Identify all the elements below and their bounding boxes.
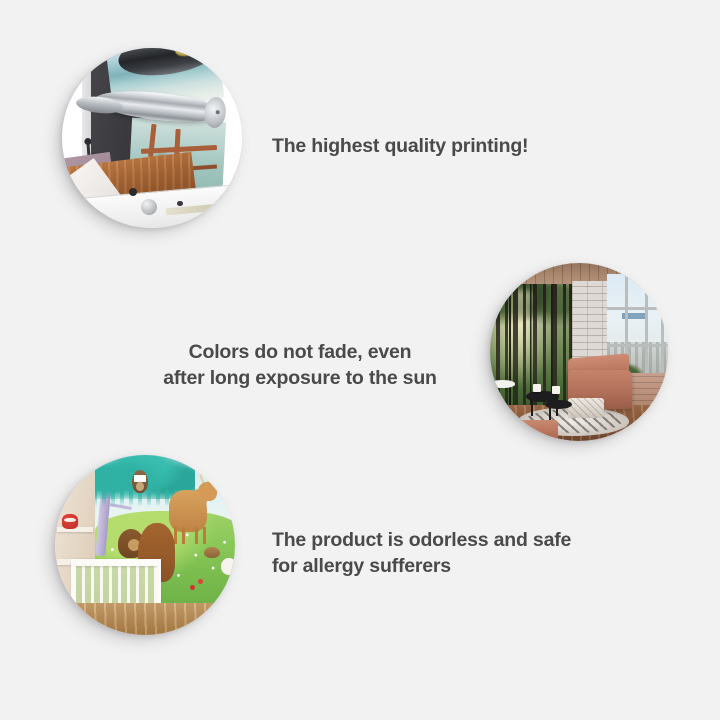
mural-berry bbox=[190, 585, 195, 590]
window-mullion-horizontal bbox=[607, 344, 668, 347]
forest-mural-living-room-photo bbox=[490, 263, 668, 441]
mural-deer-leg bbox=[195, 527, 198, 543]
red-toy bbox=[62, 514, 78, 528]
machine-dark-knob-small bbox=[177, 201, 182, 206]
feature-image-printing-quality bbox=[62, 48, 242, 228]
mural-deer-body bbox=[169, 490, 206, 531]
pedestal-side-table bbox=[490, 380, 515, 387]
nursery-wood-floor bbox=[55, 603, 235, 635]
feature-caption-colors-do-not-fade: Colors do not fade, even after long expo… bbox=[145, 340, 455, 392]
window-mullion-vertical bbox=[645, 274, 648, 384]
feature-caption-odorless-and-safe: The product is odorless and safe for all… bbox=[272, 528, 612, 580]
window-mullion-vertical bbox=[661, 274, 664, 384]
mural-deer-leg bbox=[203, 527, 206, 543]
upholstered-ottoman bbox=[568, 398, 604, 418]
feature-caption-printing-quality: The highest quality printing! bbox=[272, 134, 602, 160]
leather-bench bbox=[504, 420, 557, 441]
coffee-table-leg bbox=[549, 407, 551, 419]
mural-owl bbox=[132, 470, 148, 494]
table-cup bbox=[552, 386, 560, 394]
mural-deer-leg bbox=[182, 527, 185, 543]
nursery-woodland-mural-photo bbox=[55, 455, 235, 635]
feature-image-colors-do-not-fade bbox=[490, 263, 668, 441]
infographic-canvas: The highest quality printing! bbox=[0, 0, 720, 720]
table-cup bbox=[533, 384, 541, 392]
crib-bars bbox=[73, 566, 159, 606]
mural-hedgehog bbox=[204, 547, 220, 559]
feature-image-odorless-and-safe bbox=[55, 455, 235, 635]
window-mullion-horizontal bbox=[607, 307, 668, 310]
printing-machine-photo bbox=[62, 48, 242, 228]
round-coffee-table bbox=[545, 400, 572, 409]
crib-top-rail bbox=[71, 559, 161, 566]
mural-sheep bbox=[221, 558, 235, 574]
